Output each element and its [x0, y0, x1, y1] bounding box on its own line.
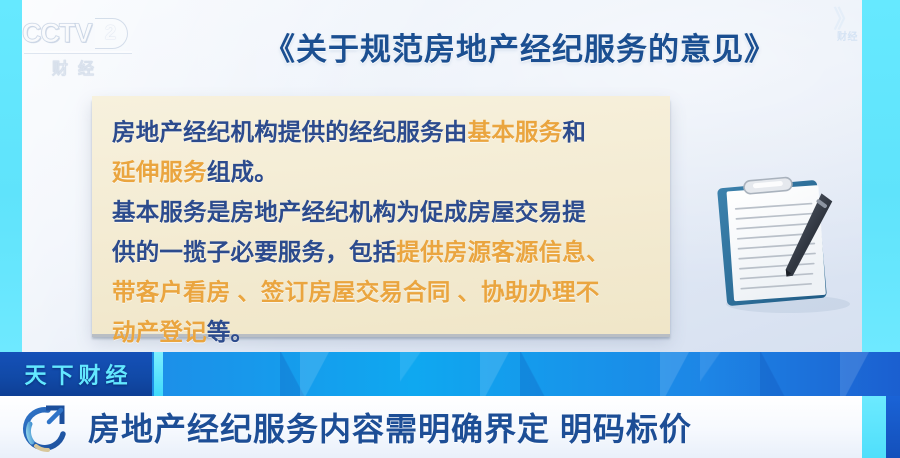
broadcast-screenshot: 》 财经 《关于规范房地产经纪服务的意见》 房地产经纪机构提供的经纪服务由基本服… [0, 0, 900, 458]
highlighted-term: 带客户看房 、签订房屋交易合同 、协助办理不 [112, 279, 599, 305]
lower-third-banner: 天下财经 [0, 352, 900, 396]
highlighted-term: 延伸服务 [112, 159, 207, 185]
headline-text: 房地产经纪服务内容需明确界定 明码标价 [88, 396, 692, 458]
body-text: 基本服务是房地产经纪机构为促成房屋交易提 [112, 199, 586, 225]
cctv2-channel-logo: CCTV 2 财经 [22, 16, 148, 78]
content-line: 基本服务是房地产经纪机构为促成房屋交易提 [112, 192, 656, 232]
clipboard-paper [726, 185, 825, 301]
body-text: 组成。 [207, 159, 278, 185]
content-card-text: 房地产经纪机构提供的经纪服务由基本服务和延伸服务组成。基本服务是房地产经纪机构为… [112, 112, 656, 352]
cctv-channel-subtitle: 财经 [52, 55, 148, 79]
headline-strip: 房地产经纪服务内容需明确界定 明码标价 [0, 396, 900, 458]
badge-accent-bar [154, 352, 163, 396]
content-line: 房地产经纪机构提供的经纪服务由基本服务和 [112, 112, 656, 152]
content-line: 供的一揽子必要服务，包括提供房源客源信息、 [112, 232, 656, 272]
program-badge: 天下财经 [0, 352, 152, 396]
cctv-channel-number: 2 [95, 18, 128, 49]
highlighted-term: 基本服务 [468, 119, 563, 145]
body-text: 房地产经纪机构提供的经纪服务由 [112, 119, 468, 145]
content-line: 延伸服务组成。 [112, 152, 656, 192]
stage-background: 》 财经 《关于规范房地产经纪服务的意见》 房地产经纪机构提供的经纪服务由基本服… [0, 0, 900, 352]
body-text: 和 [562, 119, 586, 145]
body-text: 等。 [207, 319, 254, 345]
cctv-logo-underline [24, 51, 132, 53]
content-card: 房地产经纪机构提供的经纪服务由基本服务和延伸服务组成。基本服务是房地产经纪机构为… [92, 96, 670, 334]
clipboard-illustration [700, 168, 870, 328]
program-swoosh-logo [18, 402, 76, 454]
content-line: 动产登记等。 [112, 312, 656, 352]
highlighted-term: 动产登记 [112, 319, 207, 345]
highlighted-term: 提供房源客源信息、 [396, 239, 609, 265]
program-name-label: 天下财经 [19, 358, 132, 390]
headline-blue-corner [886, 396, 900, 458]
content-line: 带客户看房 、签订房屋交易合同 、协助办理不 [112, 272, 656, 312]
cctv-wordmark: CCTV [22, 18, 92, 49]
body-text: 供的一揽子必要服务，包括 [112, 239, 396, 265]
headline-cyan-edge [862, 396, 886, 458]
